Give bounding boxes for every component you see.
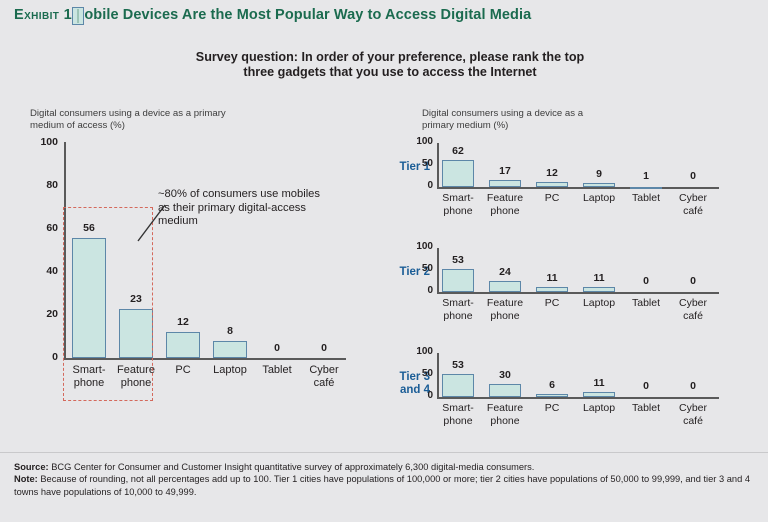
bar-tier-1-4 <box>630 187 662 189</box>
y-tick-tier-1-100: 100 <box>401 136 433 147</box>
category-line-1: phone <box>475 205 535 218</box>
bar-tier-1-0 <box>442 160 474 187</box>
category-line-1: café <box>663 415 723 428</box>
y-tick-20: 20 <box>22 308 58 320</box>
x-axis-tier-3-and-4 <box>437 397 719 399</box>
bar-tier-1-1 <box>489 180 521 187</box>
source-label: Source: <box>14 462 49 472</box>
bar-value-tier-2-4: 0 <box>622 275 670 287</box>
y-tick-100: 100 <box>22 136 58 148</box>
category-label-tier-2-5: Cybercafé <box>663 297 723 322</box>
bar-value-tier-2-0: 53 <box>434 254 482 266</box>
footnotes: Source: BCG Center for Consumer and Cust… <box>14 461 756 498</box>
bar-value-tier-1-0: 62 <box>434 145 482 157</box>
bar-value-tier-2-3: 11 <box>575 272 623 284</box>
bar-value-tier-1-4: 1 <box>622 170 670 182</box>
y-tick-tier-3-and-4-0: 0 <box>401 390 433 401</box>
bar-value-tier-3-and-4-0: 53 <box>434 359 482 371</box>
exhibit-page: Exhibit 1|Mobile Devices Are the Most Po… <box>0 0 768 522</box>
category-line-0: Cyber <box>663 192 723 205</box>
bar-value-tier-1-5: 0 <box>669 170 717 182</box>
category-line-1: phone <box>475 415 535 428</box>
source-note: Source: BCG Center for Consumer and Cust… <box>14 461 756 473</box>
bar-tier-1-3 <box>583 183 615 187</box>
y-tick-tier-2-50: 50 <box>401 263 433 274</box>
bar-tier-3-and-4-0 <box>442 374 474 397</box>
category-line-1: café <box>663 205 723 218</box>
bar-value-5: 0 <box>300 342 348 354</box>
y-tick-tier-1-50: 50 <box>401 158 433 169</box>
bar-value-tier-3-and-4-3: 11 <box>575 377 623 389</box>
bar-value-tier-2-1: 24 <box>481 266 529 278</box>
bar-value-tier-3-and-4-1: 30 <box>481 369 529 381</box>
category-line-0: Cyber <box>663 402 723 415</box>
x-axis-tier-2 <box>437 292 719 294</box>
tiers-chart-caption: Digital consumers using a device as a pr… <box>422 108 612 131</box>
category-line-1: café <box>294 377 354 390</box>
category-line-0: Cyber <box>294 364 354 377</box>
bar-tier-2-2 <box>536 287 568 292</box>
y-tick-tier-3-and-4-50: 50 <box>401 368 433 379</box>
bar-value-4: 0 <box>253 342 301 354</box>
y-tick-tier-1-0: 0 <box>401 180 433 191</box>
bar-value-tier-2-5: 0 <box>669 275 717 287</box>
bar-value-tier-3-and-4-2: 6 <box>528 379 576 391</box>
category-label-tier-3-and-4-5: Cybercafé <box>663 402 723 427</box>
category-line-1: café <box>663 310 723 323</box>
note-text: Because of rounding, not all percentages… <box>14 474 750 496</box>
bar-value-tier-1-2: 12 <box>528 167 576 179</box>
main-chart-caption: Digital consumers using a device as a pr… <box>30 108 260 131</box>
bar-value-2: 12 <box>159 316 207 328</box>
bar-tier-3-and-4-3 <box>583 392 615 397</box>
bar-value-tier-1-3: 9 <box>575 168 623 180</box>
bar-value-tier-3-and-4-4: 0 <box>622 380 670 392</box>
bar-value-tier-1-1: 17 <box>481 165 529 177</box>
category-line-1: phone <box>475 310 535 323</box>
category-label-5: Cybercafé <box>294 364 354 389</box>
bar-tier-2-1 <box>489 281 521 292</box>
bar-overall-3 <box>213 341 247 358</box>
bar-tier-2-3 <box>583 287 615 292</box>
y-tick-60: 60 <box>22 222 58 234</box>
y-tick-80: 80 <box>22 179 58 191</box>
y-tick-tier-2-100: 100 <box>401 241 433 252</box>
bar-value-3: 8 <box>206 325 254 337</box>
note-label: Note: <box>14 474 38 484</box>
x-axis-tier-1 <box>437 187 719 189</box>
bar-tier-3-and-4-2 <box>536 394 568 397</box>
bar-overall-2 <box>166 332 200 358</box>
callout-annotation: ~80% of consumers use mobiles as their p… <box>158 188 326 229</box>
y-tick-tier-2-0: 0 <box>401 285 433 296</box>
y-tick-tier-3-and-4-100: 100 <box>401 346 433 357</box>
bar-value-tier-2-2: 11 <box>528 272 576 284</box>
y-tick-40: 40 <box>22 265 58 277</box>
category-line-0: Cyber <box>663 297 723 310</box>
category-label-tier-1-5: Cybercafé <box>663 192 723 217</box>
bar-tier-3-and-4-1 <box>489 384 521 397</box>
y-tick-0: 0 <box>22 351 58 363</box>
bar-value-tier-3-and-4-5: 0 <box>669 380 717 392</box>
bar-tier-2-0 <box>442 269 474 292</box>
bar-tier-1-2 <box>536 182 568 187</box>
footer-divider <box>0 452 768 453</box>
method-note: Note: Because of rounding, not all perce… <box>14 473 756 498</box>
source-text: BCG Center for Consumer and Customer Ins… <box>51 462 534 472</box>
